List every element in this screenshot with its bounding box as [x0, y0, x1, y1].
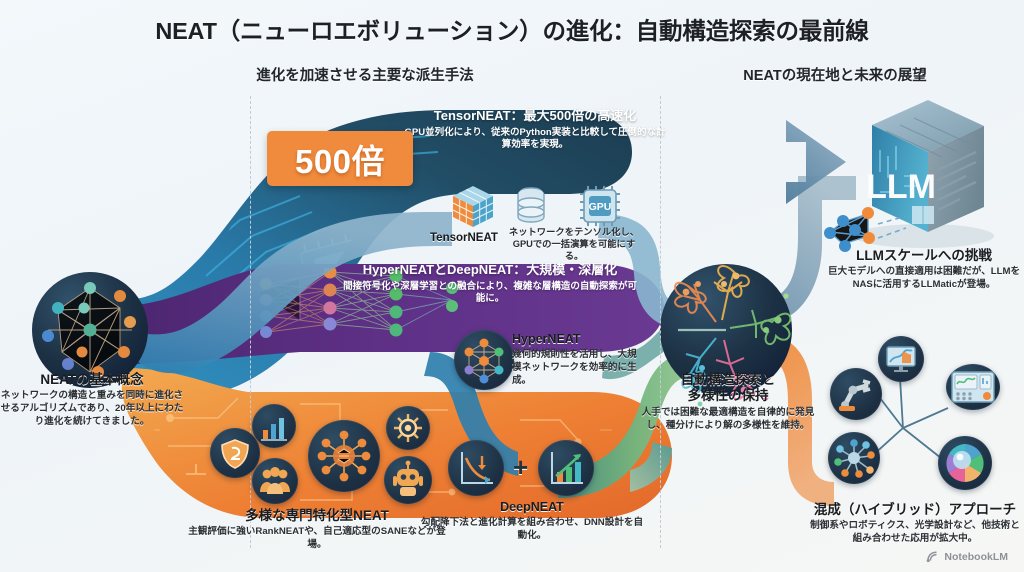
node-desc: 幾何的規則性を活用し、大規模ネットワークを効率的に生成。 — [512, 349, 642, 387]
gpu-chip-icon: GPU — [576, 182, 624, 230]
monitor-chart-icon — [878, 336, 924, 382]
card-desc: GPU並列化により、従来のPython実装と比較して圧倒的な計算効率を実現。 — [404, 127, 666, 152]
node-title: TensorNEAT — [430, 232, 510, 244]
molecule-icon — [308, 420, 380, 492]
robot-icon — [384, 456, 432, 504]
network-graph-glyph — [454, 330, 514, 390]
card-title: TensorNEAT：最大500倍の高速化 — [404, 108, 666, 124]
node-title: NEATの基本概念 — [0, 372, 184, 388]
node-label-auto-architecture: 自動構造探索と 多様性の保持 人手では困難な最適構造を自律的に発見し、種分けによ… — [640, 372, 816, 432]
monitor-chart-glyph — [878, 336, 924, 382]
node-title-line2: 多様性の保持 — [640, 388, 816, 404]
section-divider-left — [250, 96, 251, 548]
robot-arm-glyph — [830, 368, 882, 420]
gpu-chip-glyph: GPU — [576, 182, 624, 230]
bar-chart-glyph — [252, 404, 296, 448]
card-desc: 間接符号化や深層学習との融合により、複雑な層構造の自動探索が可能に。 — [340, 281, 640, 306]
oscilloscope-icon — [946, 364, 1000, 410]
section-divider-right — [660, 96, 661, 548]
gear-glyph — [386, 406, 430, 450]
section-header-right: NEATの現在地と未来の展望 — [670, 64, 1000, 85]
lens-disc-glyph — [938, 436, 992, 490]
node-title: 混成（ハイブリッド）アプローチ — [806, 502, 1024, 518]
node-desc: 巨大モデルへの直接適用は困難だが、LLMをNASに活用するLLMaticが登場。 — [824, 266, 1024, 291]
card-tensorneat-banner: TensorNEAT：最大500倍の高速化 GPU並列化により、従来のPytho… — [404, 108, 666, 152]
watermark: NotebookLM — [926, 550, 1008, 563]
card-hyper-deep-banner: HyperNEATとDeepNEAT：大規模・深層化 間接符号化や深層学習との融… — [340, 262, 640, 306]
node-desc: 主観評価に強いRankNEATや、自己適応型のSANEなどが登場。 — [188, 526, 446, 551]
node-desc: 勾配降下法と進化計算を組み合わせ、DNN設計を自動化。 — [418, 517, 646, 542]
oscilloscope-glyph — [946, 364, 1000, 410]
hybrid-network-links — [872, 378, 948, 462]
plus-operator: + — [513, 452, 528, 483]
network-hub-icon — [828, 432, 880, 484]
robot-arm-icon — [830, 368, 882, 420]
robot-glyph — [384, 456, 432, 504]
molecule-glyph — [308, 420, 380, 492]
node-title: DeepNEAT — [418, 500, 646, 515]
infographic-canvas: LLM — [0, 0, 1024, 572]
growth-chart-glyph — [538, 440, 594, 496]
cube-tensor-icon — [448, 182, 498, 232]
node-title-line1: 自動構造探索と — [640, 372, 816, 388]
node-title: 多様な専門特化型NEAT — [188, 508, 446, 524]
bar-chart-icon — [252, 404, 296, 448]
database-glyph — [514, 186, 548, 226]
node-desc: ネットワークの構造と重みを同時に進化させるアルゴリズムであり、20年以上にわたり… — [0, 390, 184, 428]
lens-disc-icon — [938, 436, 992, 490]
people-icon — [252, 458, 298, 504]
speedup-badge-value: 500倍 — [295, 135, 385, 183]
llm-server-tower-icon: LLM — [854, 100, 994, 248]
speedup-badge: 500倍 — [267, 131, 413, 186]
node-title: HyperNEAT — [512, 332, 642, 347]
loss-curve-glyph — [448, 440, 504, 496]
node-label-neat-basics: NEATの基本概念 ネットワークの構造と重みを同時に進化させるアルゴリズムであり… — [0, 372, 184, 428]
svg-text:GPU: GPU — [589, 201, 612, 213]
node-desc: ネットワークをテンソル化し、GPUでの一括演算を可能にする。 — [508, 226, 640, 262]
node-title: LLMスケールへの挑戦 — [824, 248, 1024, 264]
hyperneat-network-icon — [454, 330, 514, 390]
page-title: NEAT（ニューロエボリューション）の進化：自動構造探索の最前線 — [0, 12, 1024, 46]
node-label-deepneat: DeepNEAT 勾配降下法と進化計算を組み合わせ、DNN設計を自動化。 — [418, 500, 646, 543]
section-header-left: 進化を加速させる主要な派生手法 — [200, 64, 530, 85]
node-desc: 制御系やロボティクス、光学設計など、他技術と組み合わせた応用が拡大中。 — [806, 520, 1024, 545]
node-desc: 人手では困難な最適構造を自律的に発見し、種分けにより解の多様性を維持。 — [640, 407, 816, 432]
cube-tensor-glyph — [448, 182, 498, 232]
people-glyph — [252, 458, 298, 504]
node-label-hybrid-approach: 混成（ハイブリッド）アプローチ 制御系やロボティクス、光学設計など、他技術と組み… — [806, 502, 1024, 546]
notebooklm-logo-icon — [926, 550, 939, 563]
network-hub-glyph — [828, 432, 880, 484]
node-label-hyperneat: HyperNEAT 幾何的規則性を活用し、大規模ネットワークを効率的に生成。 — [512, 332, 642, 387]
node-label-specialized-neat: 多様な専門特化型NEAT 主観評価に強いRankNEATや、自己適応型のSANE… — [188, 508, 446, 552]
growth-chart-icon — [538, 440, 594, 496]
card-title: HyperNEATとDeepNEAT：大規模・深層化 — [340, 262, 640, 278]
watermark-label: NotebookLM — [944, 551, 1008, 563]
database-icon — [514, 186, 548, 226]
node-label-llm-scale: LLMスケールへの挑戦 巨大モデルへの直接適用は困難だが、LLMをNASに活用す… — [824, 248, 1024, 292]
svg-text:LLM: LLM — [866, 168, 936, 206]
gear-icon — [386, 406, 430, 450]
loss-curve-icon — [448, 440, 504, 496]
